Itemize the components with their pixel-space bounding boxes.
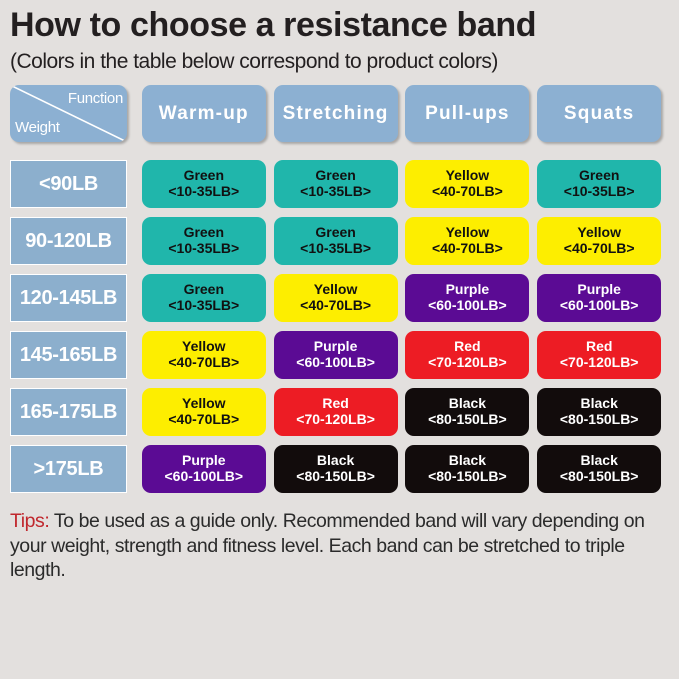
band-cell-r1-c2: Yellow<40-70LB>	[405, 217, 529, 265]
band-resistance-range: <70-120LB>	[296, 412, 375, 428]
band-resistance-range: <10-35LB>	[168, 184, 239, 200]
band-cell-wrap: Black<80-150LB>	[537, 388, 669, 436]
band-cell-wrap: Black<80-150LB>	[274, 445, 406, 493]
band-cell-r3-c2: Red<70-120LB>	[405, 331, 529, 379]
weight-label-4: 165-175LB	[10, 388, 127, 436]
band-cell-wrap: Green<10-35LB>	[142, 217, 274, 265]
band-color-name: Purple	[314, 339, 358, 355]
band-cell-wrap: Yellow<40-70LB>	[537, 217, 669, 265]
band-cell-r2-c0: Green<10-35LB>	[142, 274, 266, 322]
band-resistance-range: <60-100LB>	[296, 355, 375, 371]
band-cell-r1-c0: Green<10-35LB>	[142, 217, 266, 265]
band-color-name: Black	[317, 453, 354, 469]
band-cell-wrap: Purple<60-100LB>	[142, 445, 274, 493]
band-resistance-range: <80-150LB>	[296, 469, 375, 485]
band-cell-wrap: Black<80-150LB>	[537, 445, 669, 493]
band-cell-r3-c3: Red<70-120LB>	[537, 331, 661, 379]
band-resistance-range: <80-150LB>	[428, 469, 507, 485]
corner-cell-function-weight: Function Weight	[10, 85, 127, 142]
band-cell-wrap: Purple<60-100LB>	[405, 274, 537, 322]
table-row: 120-145LBGreen<10-35LB>Yellow<40-70LB>Pu…	[10, 274, 669, 322]
table-body: <90LBGreen<10-35LB>Green<10-35LB>Yellow<…	[10, 160, 669, 493]
band-cell-r4-c1: Red<70-120LB>	[274, 388, 398, 436]
column-header-wrap-1: Stretching	[274, 85, 406, 142]
band-cell-wrap: Yellow<40-70LB>	[274, 274, 406, 322]
band-color-name: Yellow	[446, 225, 490, 241]
band-color-name: Yellow	[182, 396, 226, 412]
table-row: 145-165LBYellow<40-70LB>Purple<60-100LB>…	[10, 331, 669, 379]
band-color-name: Green	[184, 225, 224, 241]
band-cell-wrap: Purple<60-100LB>	[274, 331, 406, 379]
band-cell-wrap: Red<70-120LB>	[405, 331, 537, 379]
resistance-band-table: Function Weight Warm-up Stretching Pull-…	[10, 85, 669, 493]
band-cell-r5-c0: Purple<60-100LB>	[142, 445, 266, 493]
band-resistance-range: <10-35LB>	[300, 241, 371, 257]
band-cell-r5-c2: Black<80-150LB>	[405, 445, 529, 493]
table-row: 90-120LBGreen<10-35LB>Green<10-35LB>Yell…	[10, 217, 669, 265]
band-resistance-range: <40-70LB>	[168, 412, 239, 428]
tips-paragraph: Tips: To be used as a guide only. Recomm…	[10, 509, 669, 583]
band-cell-wrap: Green<10-35LB>	[537, 160, 669, 208]
band-cell-wrap: Yellow<40-70LB>	[405, 160, 537, 208]
band-color-name: Purple	[446, 282, 490, 298]
band-color-name: Black	[449, 453, 486, 469]
column-header-wrap-2: Pull-ups	[405, 85, 537, 142]
band-color-name: Black	[581, 453, 618, 469]
column-header-wrap-0: Warm-up	[142, 85, 274, 142]
table-row: 165-175LBYellow<40-70LB>Red<70-120LB>Bla…	[10, 388, 669, 436]
band-color-name: Green	[315, 225, 355, 241]
band-cell-wrap: Green<10-35LB>	[274, 217, 406, 265]
band-cell-r1-c1: Green<10-35LB>	[274, 217, 398, 265]
column-header-wrap-3: Squats	[537, 85, 669, 142]
band-color-name: Red	[454, 339, 480, 355]
band-resistance-range: <80-150LB>	[560, 469, 639, 485]
column-header-pull-ups: Pull-ups	[405, 85, 529, 142]
band-cell-wrap: Red<70-120LB>	[274, 388, 406, 436]
band-cell-wrap: Red<70-120LB>	[537, 331, 669, 379]
weight-label-0: <90LB	[10, 160, 127, 208]
corner-function-label: Function	[68, 91, 123, 106]
weight-cell-wrap: 120-145LB	[10, 274, 142, 322]
band-resistance-range: <10-35LB>	[168, 241, 239, 257]
weight-label-5: >175LB	[10, 445, 127, 493]
band-color-name: Black	[581, 396, 618, 412]
band-color-name: Yellow	[314, 282, 358, 298]
band-cell-r2-c2: Purple<60-100LB>	[405, 274, 529, 322]
table-row: >175LBPurple<60-100LB>Black<80-150LB>Bla…	[10, 445, 669, 493]
band-cell-r0-c1: Green<10-35LB>	[274, 160, 398, 208]
band-cell-r3-c1: Purple<60-100LB>	[274, 331, 398, 379]
page-subtitle: (Colors in the table below correspond to…	[10, 42, 669, 73]
band-cell-wrap: Green<10-35LB>	[142, 160, 274, 208]
band-cell-r2-c1: Yellow<40-70LB>	[274, 274, 398, 322]
table-header-row: Function Weight Warm-up Stretching Pull-…	[10, 85, 669, 142]
weight-cell-wrap: >175LB	[10, 445, 142, 493]
band-color-name: Yellow	[577, 225, 621, 241]
table-row: <90LBGreen<10-35LB>Green<10-35LB>Yellow<…	[10, 160, 669, 208]
weight-label-1: 90-120LB	[10, 217, 127, 265]
band-cell-wrap: Yellow<40-70LB>	[405, 217, 537, 265]
band-cell-wrap: Black<80-150LB>	[405, 445, 537, 493]
column-header-squats: Squats	[537, 85, 661, 142]
band-resistance-range: <70-120LB>	[428, 355, 507, 371]
band-resistance-range: <40-70LB>	[300, 298, 371, 314]
corner-weight-label: Weight	[15, 120, 60, 135]
band-resistance-range: <40-70LB>	[564, 241, 635, 257]
band-resistance-range: <40-70LB>	[432, 241, 503, 257]
band-color-name: Yellow	[446, 168, 490, 184]
band-resistance-range: <40-70LB>	[168, 355, 239, 371]
tips-label: Tips:	[10, 510, 49, 532]
band-cell-r4-c0: Yellow<40-70LB>	[142, 388, 266, 436]
band-color-name: Red	[322, 396, 348, 412]
band-color-name: Red	[586, 339, 612, 355]
band-color-name: Black	[449, 396, 486, 412]
band-resistance-range: <60-100LB>	[164, 469, 243, 485]
band-resistance-range: <60-100LB>	[560, 298, 639, 314]
band-resistance-range: <40-70LB>	[432, 184, 503, 200]
weight-cell-wrap: 90-120LB	[10, 217, 142, 265]
band-cell-r5-c3: Black<80-150LB>	[537, 445, 661, 493]
column-header-warm-up: Warm-up	[142, 85, 266, 142]
band-cell-r0-c0: Green<10-35LB>	[142, 160, 266, 208]
weight-label-3: 145-165LB	[10, 331, 127, 379]
weight-cell-wrap: 145-165LB	[10, 331, 142, 379]
band-color-name: Purple	[182, 453, 226, 469]
band-resistance-range: <10-35LB>	[300, 184, 371, 200]
weight-cell-wrap: <90LB	[10, 160, 142, 208]
band-cell-r4-c3: Black<80-150LB>	[537, 388, 661, 436]
weight-cell-wrap: 165-175LB	[10, 388, 142, 436]
band-color-name: Green	[184, 282, 224, 298]
band-color-name: Green	[315, 168, 355, 184]
weight-label-2: 120-145LB	[10, 274, 127, 322]
band-resistance-range: <60-100LB>	[428, 298, 507, 314]
corner-cell-wrap: Function Weight	[10, 85, 142, 142]
tips-text: To be used as a guide only. Recommended …	[10, 510, 645, 581]
band-cell-wrap: Green<10-35LB>	[142, 274, 274, 322]
band-cell-r4-c2: Black<80-150LB>	[405, 388, 529, 436]
band-cell-wrap: Purple<60-100LB>	[537, 274, 669, 322]
band-cell-r1-c3: Yellow<40-70LB>	[537, 217, 661, 265]
band-cell-r3-c0: Yellow<40-70LB>	[142, 331, 266, 379]
band-cell-wrap: Yellow<40-70LB>	[142, 388, 274, 436]
band-color-name: Green	[579, 168, 619, 184]
column-header-stretching: Stretching	[274, 85, 398, 142]
resistance-band-chart: How to choose a resistance band (Colors …	[0, 0, 679, 679]
band-resistance-range: <80-150LB>	[560, 412, 639, 428]
band-resistance-range: <80-150LB>	[428, 412, 507, 428]
band-cell-wrap: Black<80-150LB>	[405, 388, 537, 436]
band-cell-r0-c2: Yellow<40-70LB>	[405, 160, 529, 208]
band-resistance-range: <10-35LB>	[564, 184, 635, 200]
band-color-name: Yellow	[182, 339, 226, 355]
band-cell-wrap: Yellow<40-70LB>	[142, 331, 274, 379]
band-cell-r0-c3: Green<10-35LB>	[537, 160, 661, 208]
band-cell-r5-c1: Black<80-150LB>	[274, 445, 398, 493]
band-cell-r2-c3: Purple<60-100LB>	[537, 274, 661, 322]
band-color-name: Green	[184, 168, 224, 184]
page-title: How to choose a resistance band	[10, 0, 669, 42]
band-cell-wrap: Green<10-35LB>	[274, 160, 406, 208]
band-resistance-range: <10-35LB>	[168, 298, 239, 314]
band-resistance-range: <70-120LB>	[560, 355, 639, 371]
band-color-name: Purple	[577, 282, 621, 298]
